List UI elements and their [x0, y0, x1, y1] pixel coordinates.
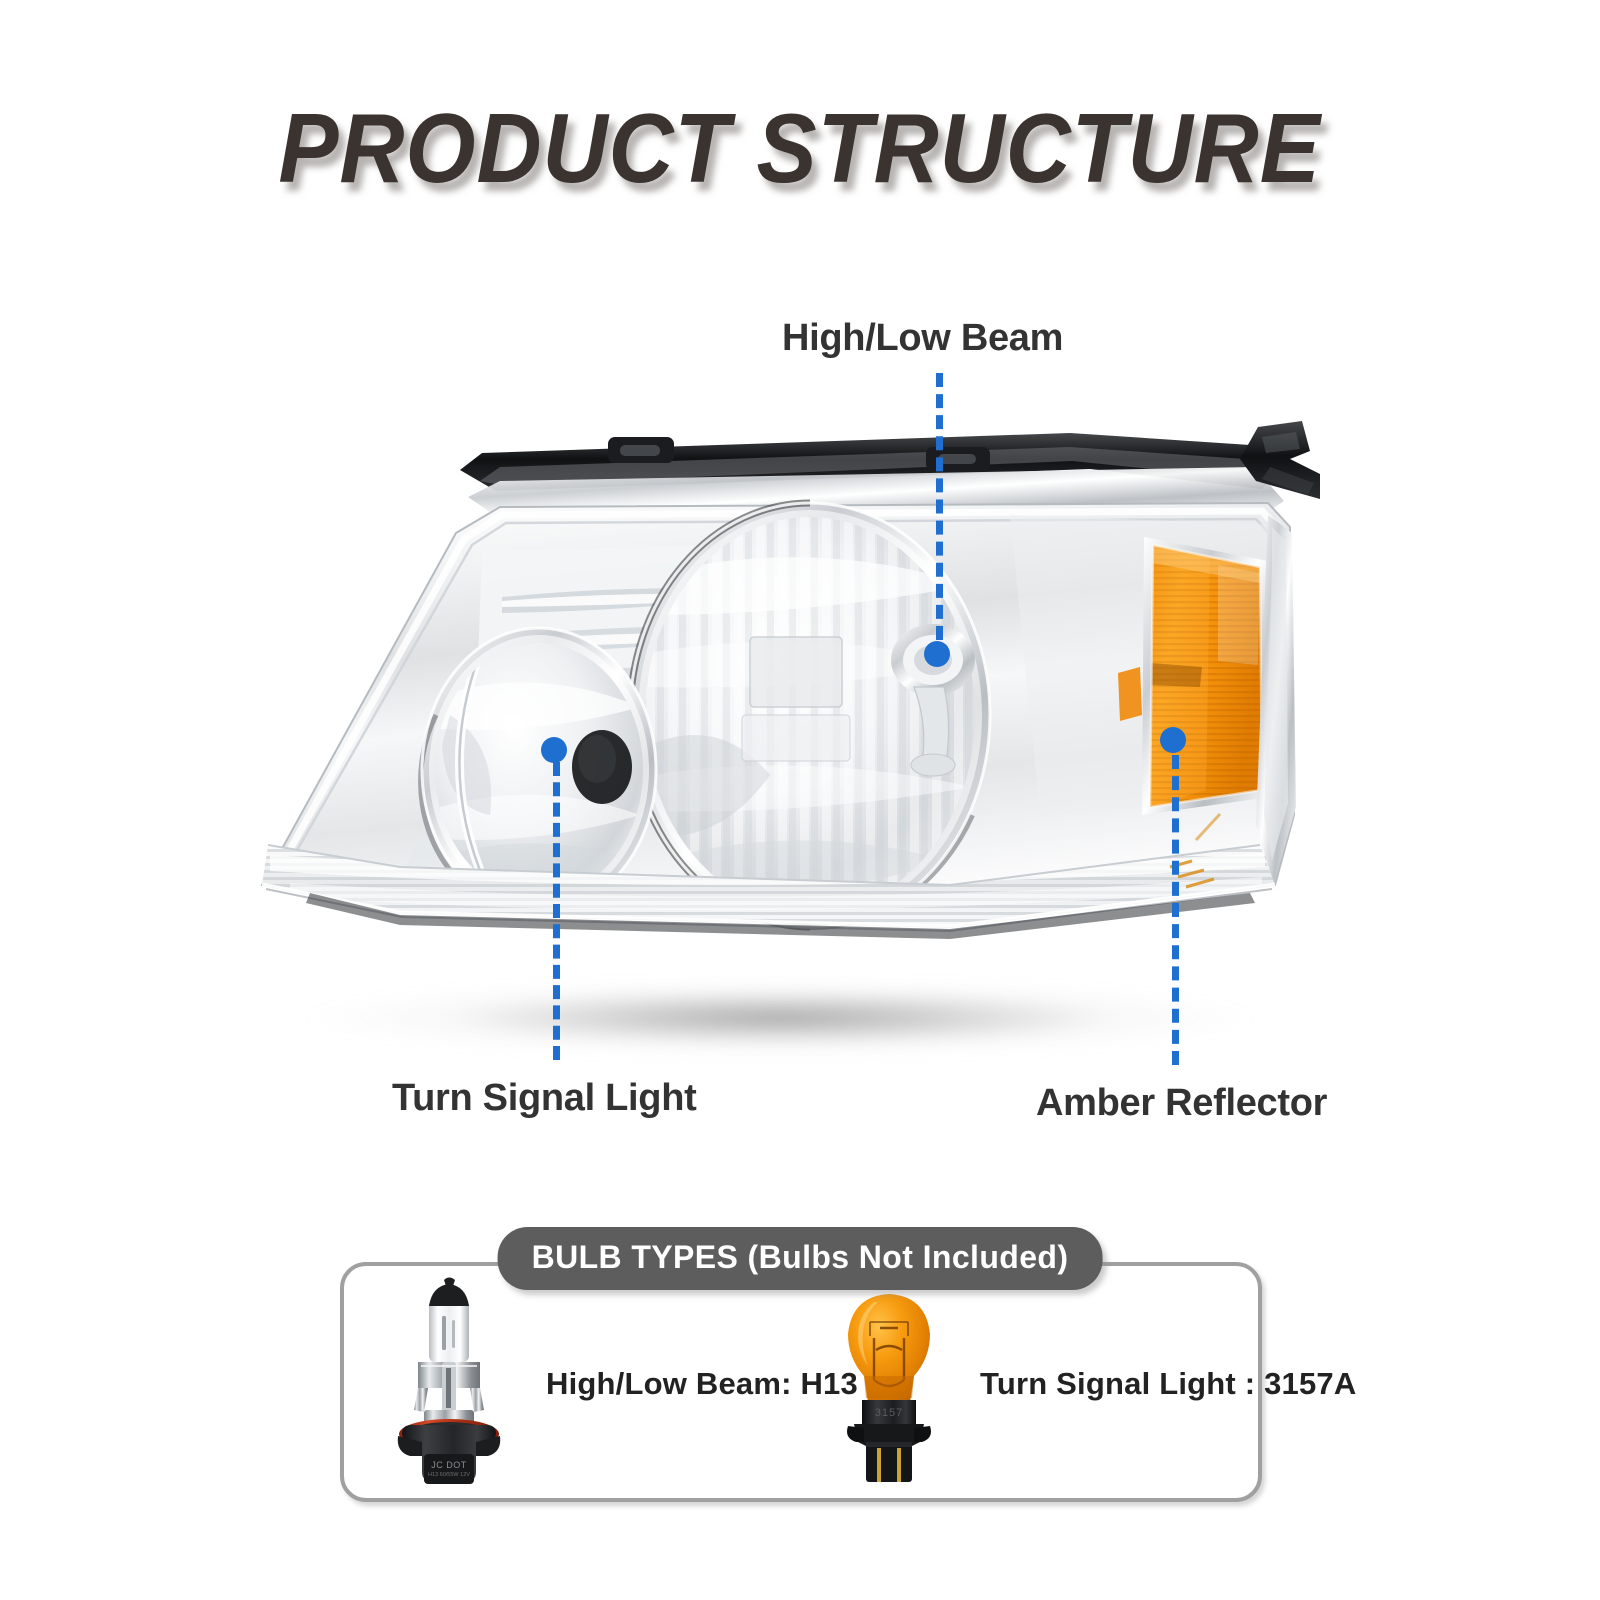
- bulb-label-turn-signal: Turn Signal Light : 3157A: [980, 1366, 1356, 1402]
- callout-label-turn-signal-light: Turn Signal Light: [392, 1077, 697, 1120]
- callout-label-amber-reflector: Amber Reflector: [1036, 1082, 1327, 1125]
- headlight-assembly-image: [250, 415, 1320, 985]
- svg-text:JC DOT: JC DOT: [431, 1460, 467, 1470]
- product-drop-shadow: [300, 985, 1260, 1063]
- page-title: PRODUCT STRUCTURE: [279, 92, 1321, 205]
- leader-line-turn-signal: [553, 762, 560, 1060]
- bulb-types-panel: JC DOT H13 60/55W 12V High/Low Beam: H13: [340, 1262, 1262, 1502]
- leader-dot-high-low-beam: [924, 641, 950, 667]
- bulb-label-high-low: High/Low Beam: H13: [546, 1366, 858, 1402]
- bulb-item-high-low: JC DOT H13 60/55W 12V High/Low Beam: H13: [380, 1276, 858, 1491]
- bulb-item-turn-signal: 3157 Turn Signal Light : 3157A: [814, 1276, 1356, 1491]
- leader-dot-turn-signal: [541, 737, 567, 763]
- bulb-types-badge: BULB TYPES (Bulbs Not Included): [498, 1227, 1103, 1290]
- halogen-bulb-clear-icon: JC DOT H13 60/55W 12V: [380, 1276, 530, 1491]
- page-title-wrap: PRODUCT STRUCTURE: [0, 92, 1600, 205]
- leader-line-amber-reflector: [1172, 755, 1179, 1065]
- svg-text:H13 60/55W 12V: H13 60/55W 12V: [428, 1472, 470, 1478]
- leader-line-high-low-beam: [936, 373, 943, 640]
- amber-wedge-bulb-icon: 3157: [814, 1276, 964, 1491]
- svg-text:3157: 3157: [875, 1407, 903, 1419]
- leader-dot-amber-reflector: [1160, 727, 1186, 753]
- callout-label-high-low-beam: High/Low Beam: [782, 317, 1063, 360]
